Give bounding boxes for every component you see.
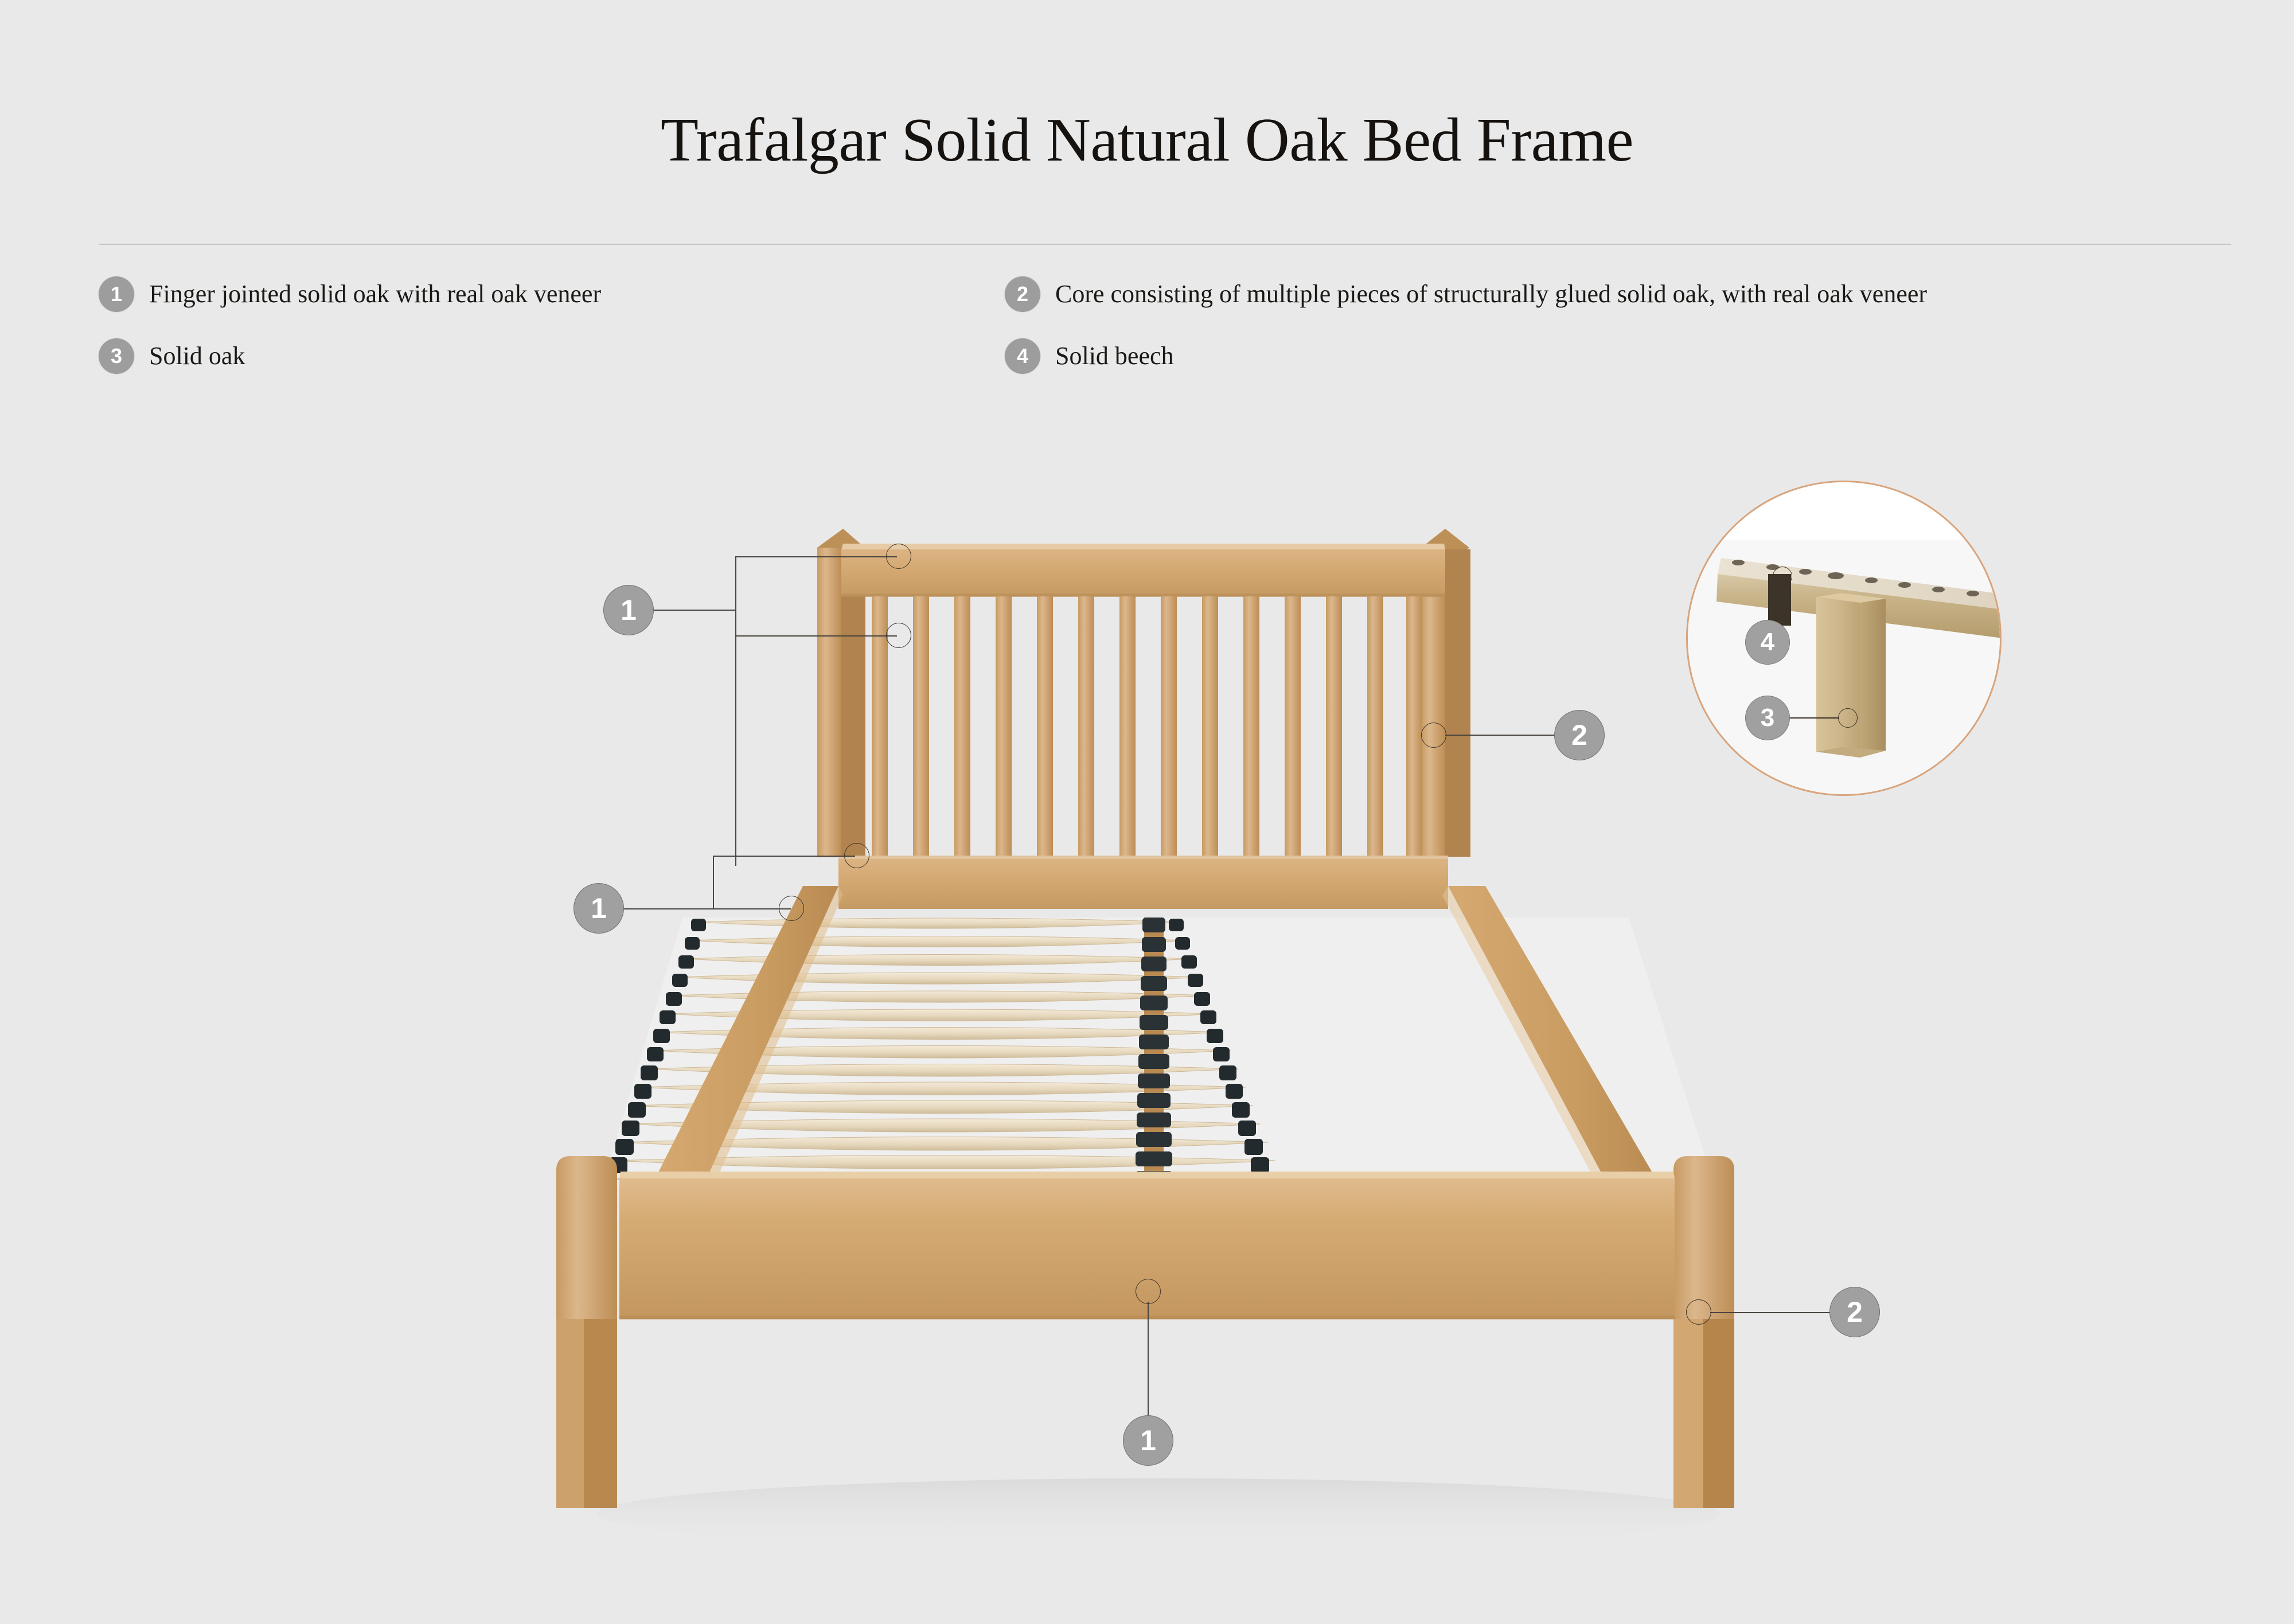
infographic-page: Trafalgar Solid Natural Oak Bed Frame 1 … [0, 0, 2294, 1624]
target-ring-footboard-panel-icon [1136, 1279, 1161, 1304]
bed-frame-illustration [0, 0, 2294, 1624]
headboard-spindles [872, 596, 1422, 857]
callout-1-headboard[interactable]: 1 [603, 585, 654, 635]
inset-callout-3[interactable]: 3 [1745, 696, 1790, 740]
callout-1-siderail-leader-top [713, 856, 855, 857]
footboard-left-post [556, 1156, 617, 1508]
callout-1-headboard-leader-bottom [735, 635, 897, 637]
callout-1-headboard-bracket [735, 556, 736, 866]
inset-callout-3-leader [1790, 717, 1839, 719]
headboard-top-rail [841, 544, 1445, 597]
target-ring-headboard-rail-icon [886, 544, 911, 569]
callout-1-headboard-leader-top [735, 556, 897, 557]
target-ring-headboard-bottom-rail-icon [844, 843, 869, 868]
inset-detail-center-support: 4 3 [1686, 481, 2002, 796]
callout-2-headpost[interactable]: 2 [1554, 710, 1605, 760]
headboard-bottom-rail [838, 856, 1448, 909]
footboard-right-post [1673, 1156, 1734, 1508]
callout-2-footpost-leader [1710, 1312, 1831, 1313]
inset-target-ring-rail-icon [1773, 567, 1792, 586]
inset-target-ring-leg-icon [1838, 708, 1858, 728]
callout-1-siderail-leader-stem [624, 908, 713, 909]
target-ring-headboard-post-icon [1421, 723, 1446, 748]
inset-center-leg-illustration [1688, 482, 2002, 796]
callout-2-headpost-leader [1445, 735, 1555, 736]
inset-callout-4[interactable]: 4 [1745, 620, 1790, 665]
callout-1-headboard-leader-stem [654, 610, 735, 611]
target-ring-footboard-post-icon [1686, 1299, 1711, 1325]
target-ring-left-side-rail-icon [779, 896, 804, 921]
target-ring-headboard-spindle-icon [886, 623, 911, 648]
callout-2-footpost[interactable]: 2 [1829, 1287, 1880, 1337]
callout-1-footboard-leader [1148, 1302, 1149, 1416]
callout-1-siderail[interactable]: 1 [573, 883, 624, 934]
callout-1-footboard[interactable]: 1 [1123, 1415, 1173, 1466]
callout-1-siderail-bracket [713, 856, 714, 909]
